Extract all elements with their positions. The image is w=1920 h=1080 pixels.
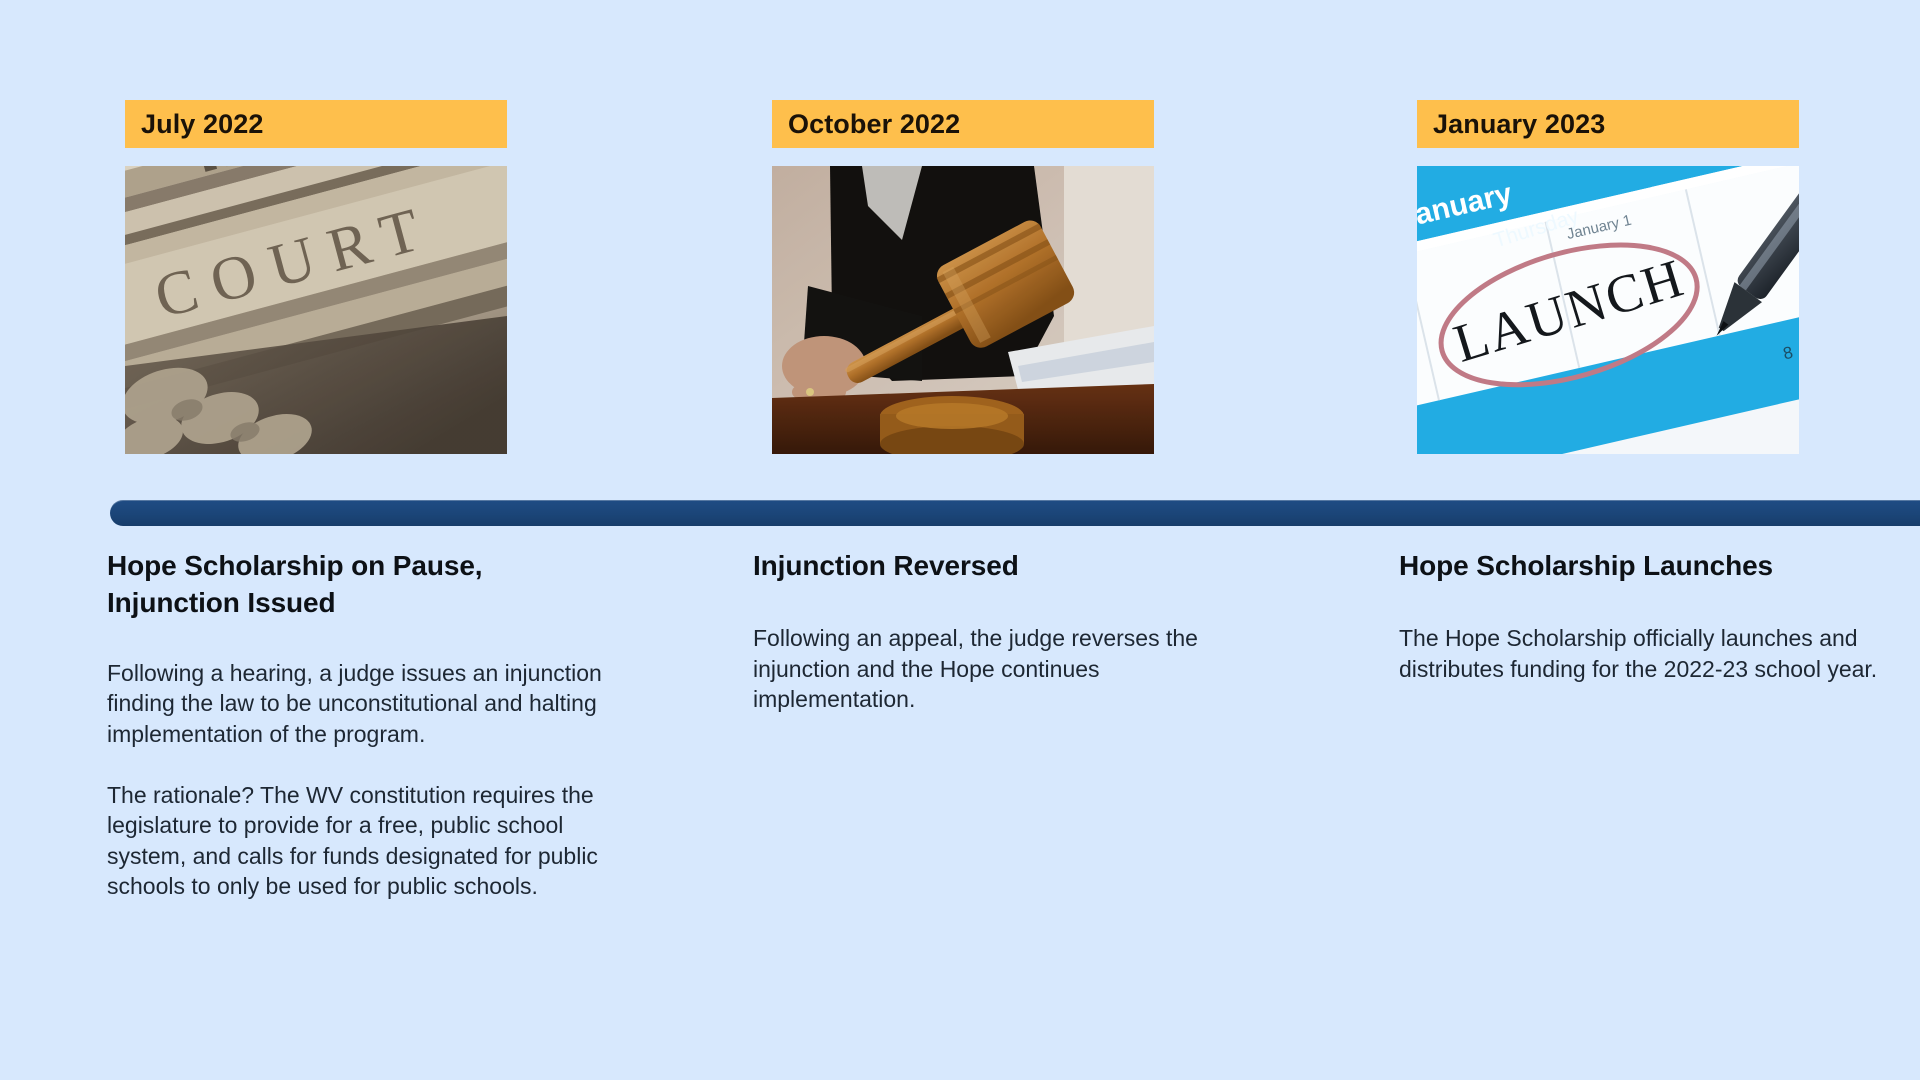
judge-gavel-photo bbox=[772, 166, 1154, 454]
timeline-column-3-header: January 2023 bbox=[1417, 100, 1799, 454]
date-badge-label: January 2023 bbox=[1433, 111, 1605, 138]
event-title: Injunction Reversed bbox=[753, 548, 1223, 585]
courthouse-facade-illustration: COURT bbox=[125, 166, 507, 454]
timeline-event-2: Injunction Reversed Following an appeal,… bbox=[753, 548, 1223, 715]
event-paragraph: Following an appeal, the judge reverses … bbox=[753, 623, 1223, 715]
timeline-top-row: July 2022 bbox=[0, 0, 1920, 500]
timeline-column-1-header: July 2022 bbox=[125, 100, 507, 454]
timeline-column-2-header: October 2022 bbox=[772, 100, 1154, 454]
date-badge-label: October 2022 bbox=[788, 111, 960, 138]
timeline-event-3: Hope Scholarship Launches The Hope Schol… bbox=[1399, 548, 1899, 684]
calendar-launch-photo: January Thursday Friday 1 January 1 31 8… bbox=[1417, 166, 1799, 454]
timeline-progress-bar bbox=[110, 500, 1920, 526]
event-body: Following an appeal, the judge reverses … bbox=[753, 623, 1223, 715]
timeline-event-1: Hope Scholarship on Pause, Injunction Is… bbox=[107, 548, 617, 902]
date-badge-january-2023: January 2023 bbox=[1417, 100, 1799, 148]
event-body: Following a hearing, a judge issues an i… bbox=[107, 658, 617, 902]
courthouse-facade-photo: COURT bbox=[125, 166, 507, 454]
event-paragraph: Following a hearing, a judge issues an i… bbox=[107, 658, 617, 750]
event-paragraph: The rationale? The WV constitution requi… bbox=[107, 780, 617, 902]
judge-gavel-illustration bbox=[772, 166, 1154, 454]
event-title: Hope Scholarship Launches bbox=[1399, 548, 1899, 585]
date-badge-october-2022: October 2022 bbox=[772, 100, 1154, 148]
calendar-launch-illustration: January Thursday Friday 1 January 1 31 8… bbox=[1417, 166, 1799, 454]
timeline-bottom-row: Hope Scholarship on Pause, Injunction Is… bbox=[0, 548, 1920, 1080]
event-body: The Hope Scholarship officially launches… bbox=[1399, 623, 1899, 684]
event-title: Hope Scholarship on Pause, Injunction Is… bbox=[107, 548, 617, 622]
event-paragraph: The Hope Scholarship officially launches… bbox=[1399, 623, 1899, 684]
date-badge-label: July 2022 bbox=[141, 111, 264, 138]
date-badge-july-2022: July 2022 bbox=[125, 100, 507, 148]
